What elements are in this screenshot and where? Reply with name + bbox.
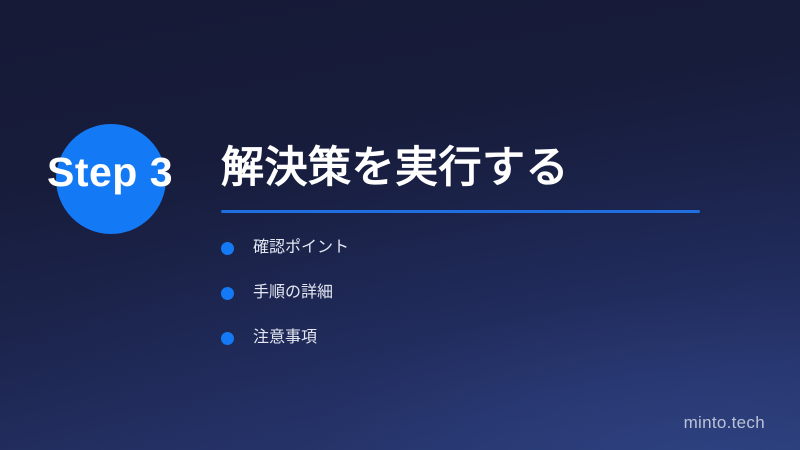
bullet-dot-icon	[221, 287, 234, 300]
list-item: 注意事項	[221, 322, 349, 354]
page-title: 解決策を実行する	[221, 146, 569, 191]
footer-brand-watermark: minto.tech	[684, 413, 765, 433]
title-divider	[221, 210, 700, 213]
list-item: 手順の詳細	[221, 277, 349, 309]
slide-canvas: Step 3 解決策を実行する 確認ポイント 手順の詳細 注意事項 minto.…	[0, 0, 800, 450]
bullet-list: 確認ポイント 手順の詳細 注意事項	[221, 232, 349, 367]
list-item-label: 注意事項	[253, 330, 317, 346]
list-item: 確認ポイント	[221, 232, 349, 264]
step-badge-label: Step 3	[47, 152, 173, 193]
list-item-label: 確認ポイント	[253, 240, 349, 256]
list-item-label: 手順の詳細	[253, 285, 333, 301]
bullet-dot-icon	[221, 332, 234, 345]
slide-content-layer: Step 3 解決策を実行する 確認ポイント 手順の詳細 注意事項 minto.…	[0, 0, 800, 450]
bullet-dot-icon	[221, 242, 234, 255]
